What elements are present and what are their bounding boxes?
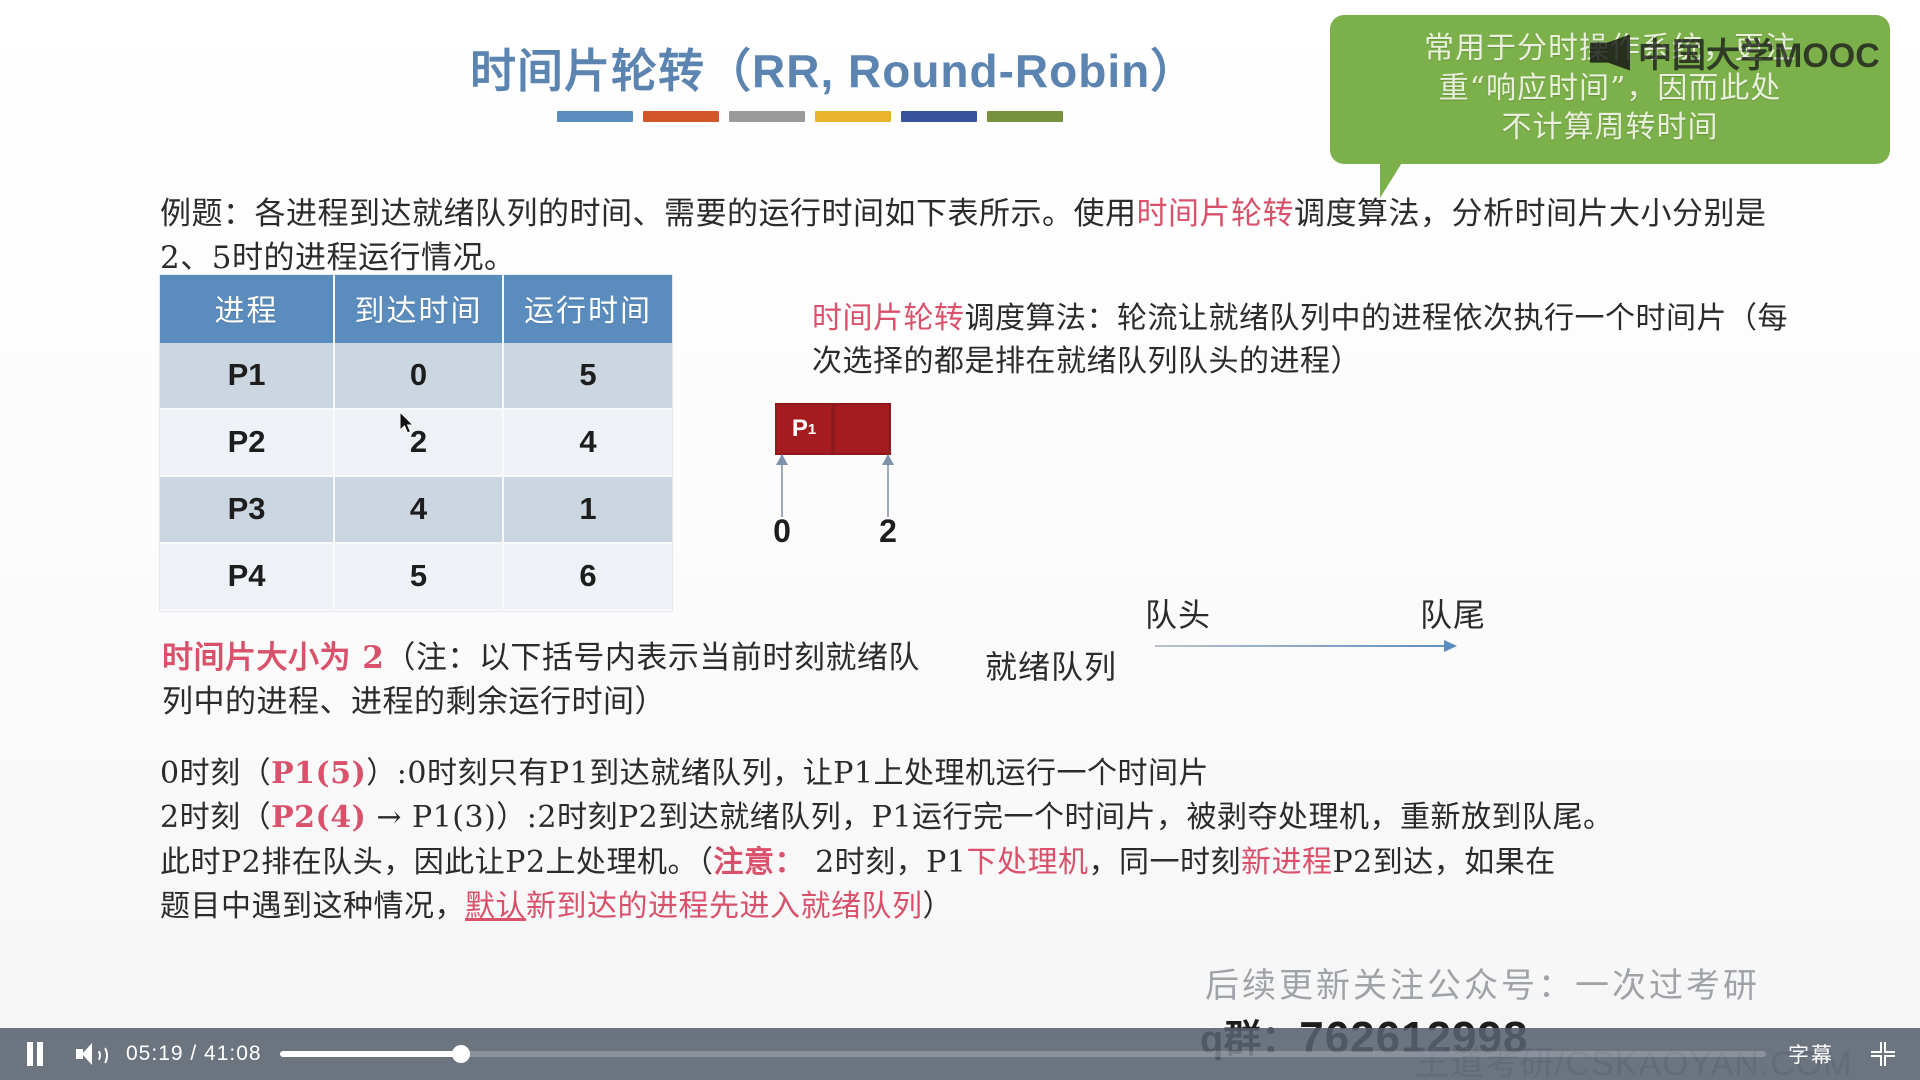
pause-icon: [26, 1042, 44, 1066]
accent-bar-4: [815, 111, 891, 122]
pause-button[interactable]: [8, 1028, 62, 1080]
slide-canvas: 时间片轮转（RR, Round-Robin） 常用于分时操作系统，更注 重“响应…: [0, 0, 1920, 1038]
timeline-line-2: 2时刻（P2(4) → P1(3)）:2时刻P2到达就绪队列，P1运行完一个时间…: [160, 796, 1820, 840]
callout-line-2: 重“响应时间”，因而此处: [1348, 69, 1872, 109]
cell-process-p3: P3: [160, 476, 334, 543]
t3-hl1: 下处理机: [966, 845, 1088, 880]
t3b: 2时刻，P1: [805, 845, 966, 880]
t1-proc: P1(5): [271, 756, 366, 791]
queue-tail-label: 队尾: [1420, 590, 1486, 636]
t2b: ）:2时刻P2到达就绪队列，P1运行完一个时间片，被剥夺处理机，重新放到队尾。: [496, 800, 1613, 835]
slide-title-block: 时间片轮转（RR, Round-Robin）: [470, 46, 1090, 122]
promo-text: 后续更新关注公众号：一次过考研: [1205, 958, 1760, 1007]
cell-burst-p2: 4: [503, 409, 672, 476]
gantt-cell-empty: [833, 403, 891, 455]
queue-name-label: 就绪队列: [985, 642, 1117, 688]
queue-direction-arrow: [1155, 645, 1455, 647]
column-header-arrival: 到达时间: [334, 275, 503, 343]
title-chinese: 时间片轮转: [470, 44, 705, 98]
t4a: 题目中遇到这种情况，: [160, 889, 465, 924]
gantt-tick-2: [887, 455, 889, 517]
t4-uline: 默认: [465, 889, 526, 924]
accent-bar-2: [643, 111, 719, 122]
cell-arrival-p4: 5: [334, 543, 503, 610]
gantt-tick-label-2: 2: [879, 513, 897, 550]
fs-corner-tl: [1871, 1042, 1882, 1053]
cell-process-p1: P1: [160, 343, 334, 409]
t1a: 0时刻（: [160, 756, 271, 791]
table-header-row: 进程 到达时间 运行时间: [160, 275, 672, 343]
process-table: 进程 到达时间 运行时间 P1 0 5 P2 2 4 P3 4: [160, 275, 672, 611]
t3c: ，同一时刻: [1088, 845, 1241, 880]
exit-fullscreen-icon: [1871, 1042, 1895, 1066]
slice-note-highlight: 时间片大小为 2: [162, 640, 384, 676]
t3-hl2: 新进程: [1241, 845, 1333, 880]
cell-process-p4: P4: [160, 543, 334, 610]
volume-button[interactable]: [62, 1028, 116, 1080]
accent-bar-6: [987, 111, 1063, 122]
table-row: P2 2 4: [160, 409, 672, 476]
table-row: P1 0 5: [160, 343, 672, 409]
timeline-line-1: 0时刻（P1(5)）:0时刻只有P1到达就绪队列，让P1上处理机运行一个时间片: [160, 752, 1820, 796]
table-row: P3 4 1: [160, 476, 672, 543]
video-player-controls: 05:19 / 41:08 字幕: [0, 1028, 1920, 1080]
gantt-cell-p1: P1: [775, 403, 833, 455]
gantt-tick-0: [781, 455, 783, 517]
t3-note: 注意：: [714, 845, 806, 880]
exit-fullscreen-button[interactable]: [1860, 1028, 1906, 1080]
column-header-burst: 运行时间: [503, 275, 672, 343]
gantt-chart: P1 0 2: [775, 403, 955, 541]
progress-fill: [280, 1051, 461, 1057]
cell-process-p2: P2: [160, 409, 334, 476]
cell-burst-p3: 1: [503, 476, 672, 543]
algo-highlight: 时间片轮转: [812, 301, 965, 336]
progress-thumb[interactable]: [452, 1045, 470, 1063]
timeline-explanation: 0时刻（P1(5)）:0时刻只有P1到达就绪队列，让P1上处理机运行一个时间片 …: [160, 752, 1820, 930]
volume-speaker-cone: [82, 1043, 92, 1065]
fs-corner-br: [1884, 1055, 1895, 1066]
cell-arrival-p3: 4: [334, 476, 503, 543]
title-accent-bars: [470, 111, 1090, 122]
algorithm-description: 时间片轮转调度算法：轮流让就绪队列中的进程依次执行一个时间片（每次选择的都是排在…: [812, 298, 1812, 383]
t4-hl: 新到达的进程先进入就绪队列: [526, 889, 923, 924]
cell-burst-p1: 5: [503, 343, 672, 409]
time-slice-note: 时间片大小为 2（注：以下括号内表示当前时刻就绪队列中的进程、进程的剩余运行时间…: [162, 636, 922, 724]
video-player-screen: 时间片轮转（RR, Round-Robin） 常用于分时操作系统，更注 重“响应…: [0, 0, 1920, 1080]
accent-bar-1: [557, 111, 633, 122]
progress-slider[interactable]: [280, 1051, 1766, 1057]
t4b: ）: [923, 889, 954, 924]
t3a: 此时P2排在队头，因此让P2上处理机。（: [160, 845, 714, 880]
t2a: 2时刻（: [160, 800, 271, 835]
fs-corner-bl: [1871, 1055, 1882, 1066]
time-display: 05:19 / 41:08: [126, 1042, 262, 1066]
t2-proc2: P1(3): [412, 800, 496, 835]
callout-line-1: 常用于分时操作系统，更注: [1348, 29, 1872, 69]
callout-tail: [1380, 150, 1530, 198]
cell-arrival-p1: 0: [334, 343, 503, 409]
accent-bar-3: [729, 111, 805, 122]
ready-queue-diagram: 就绪队列 队头 队尾: [985, 590, 1505, 690]
subtitle-button[interactable]: 字幕: [1788, 1039, 1834, 1069]
t2-arrow: →: [366, 800, 412, 835]
gantt-tick-axis: 0 2: [775, 455, 955, 541]
table-row: P4 5 6: [160, 543, 672, 610]
queue-head-label: 队头: [1145, 590, 1211, 636]
fs-corner-tr: [1884, 1042, 1895, 1053]
gantt-tick-label-0: 0: [773, 513, 791, 550]
example-problem-text: 例题：各进程到达就绪队列的时间、需要的运行时间如下表所示。使用时间片轮转调度算法…: [160, 192, 1780, 280]
column-header-process: 进程: [160, 275, 334, 343]
timeline-line-4: 题目中遇到这种情况，默认新到达的进程先进入就绪队列）: [160, 885, 1820, 929]
accent-bar-5: [901, 111, 977, 122]
t2-proc1: P2(4): [271, 800, 366, 835]
gantt-cell-sub: 1: [808, 421, 816, 438]
cell-arrival-p2: 2: [334, 409, 503, 476]
t3d: P2到达，如果在: [1332, 845, 1555, 880]
gantt-cell-label: P: [792, 415, 808, 443]
t1b: ）:0时刻只有P1到达就绪队列，让P1上处理机运行一个时间片: [366, 756, 1209, 791]
cell-burst-p4: 6: [503, 543, 672, 610]
gantt-bar-row: P1: [775, 403, 955, 455]
page-title: 时间片轮转（RR, Round-Robin）: [470, 46, 1090, 97]
green-callout-box: 常用于分时操作系统，更注 重“响应时间”，因而此处 不计算周转时间: [1330, 15, 1890, 164]
volume-wave-large: [95, 1045, 108, 1066]
timeline-line-3: 此时P2排在队头，因此让P2上处理机。（注意： 2时刻，P1下处理机，同一时刻新…: [160, 841, 1820, 885]
volume-icon: [76, 1043, 102, 1065]
callout-line-3: 不计算周转时间: [1348, 108, 1872, 148]
title-english: （RR, Round-Robin）: [705, 45, 1197, 97]
example-highlight: 时间片轮转: [1137, 196, 1295, 232]
